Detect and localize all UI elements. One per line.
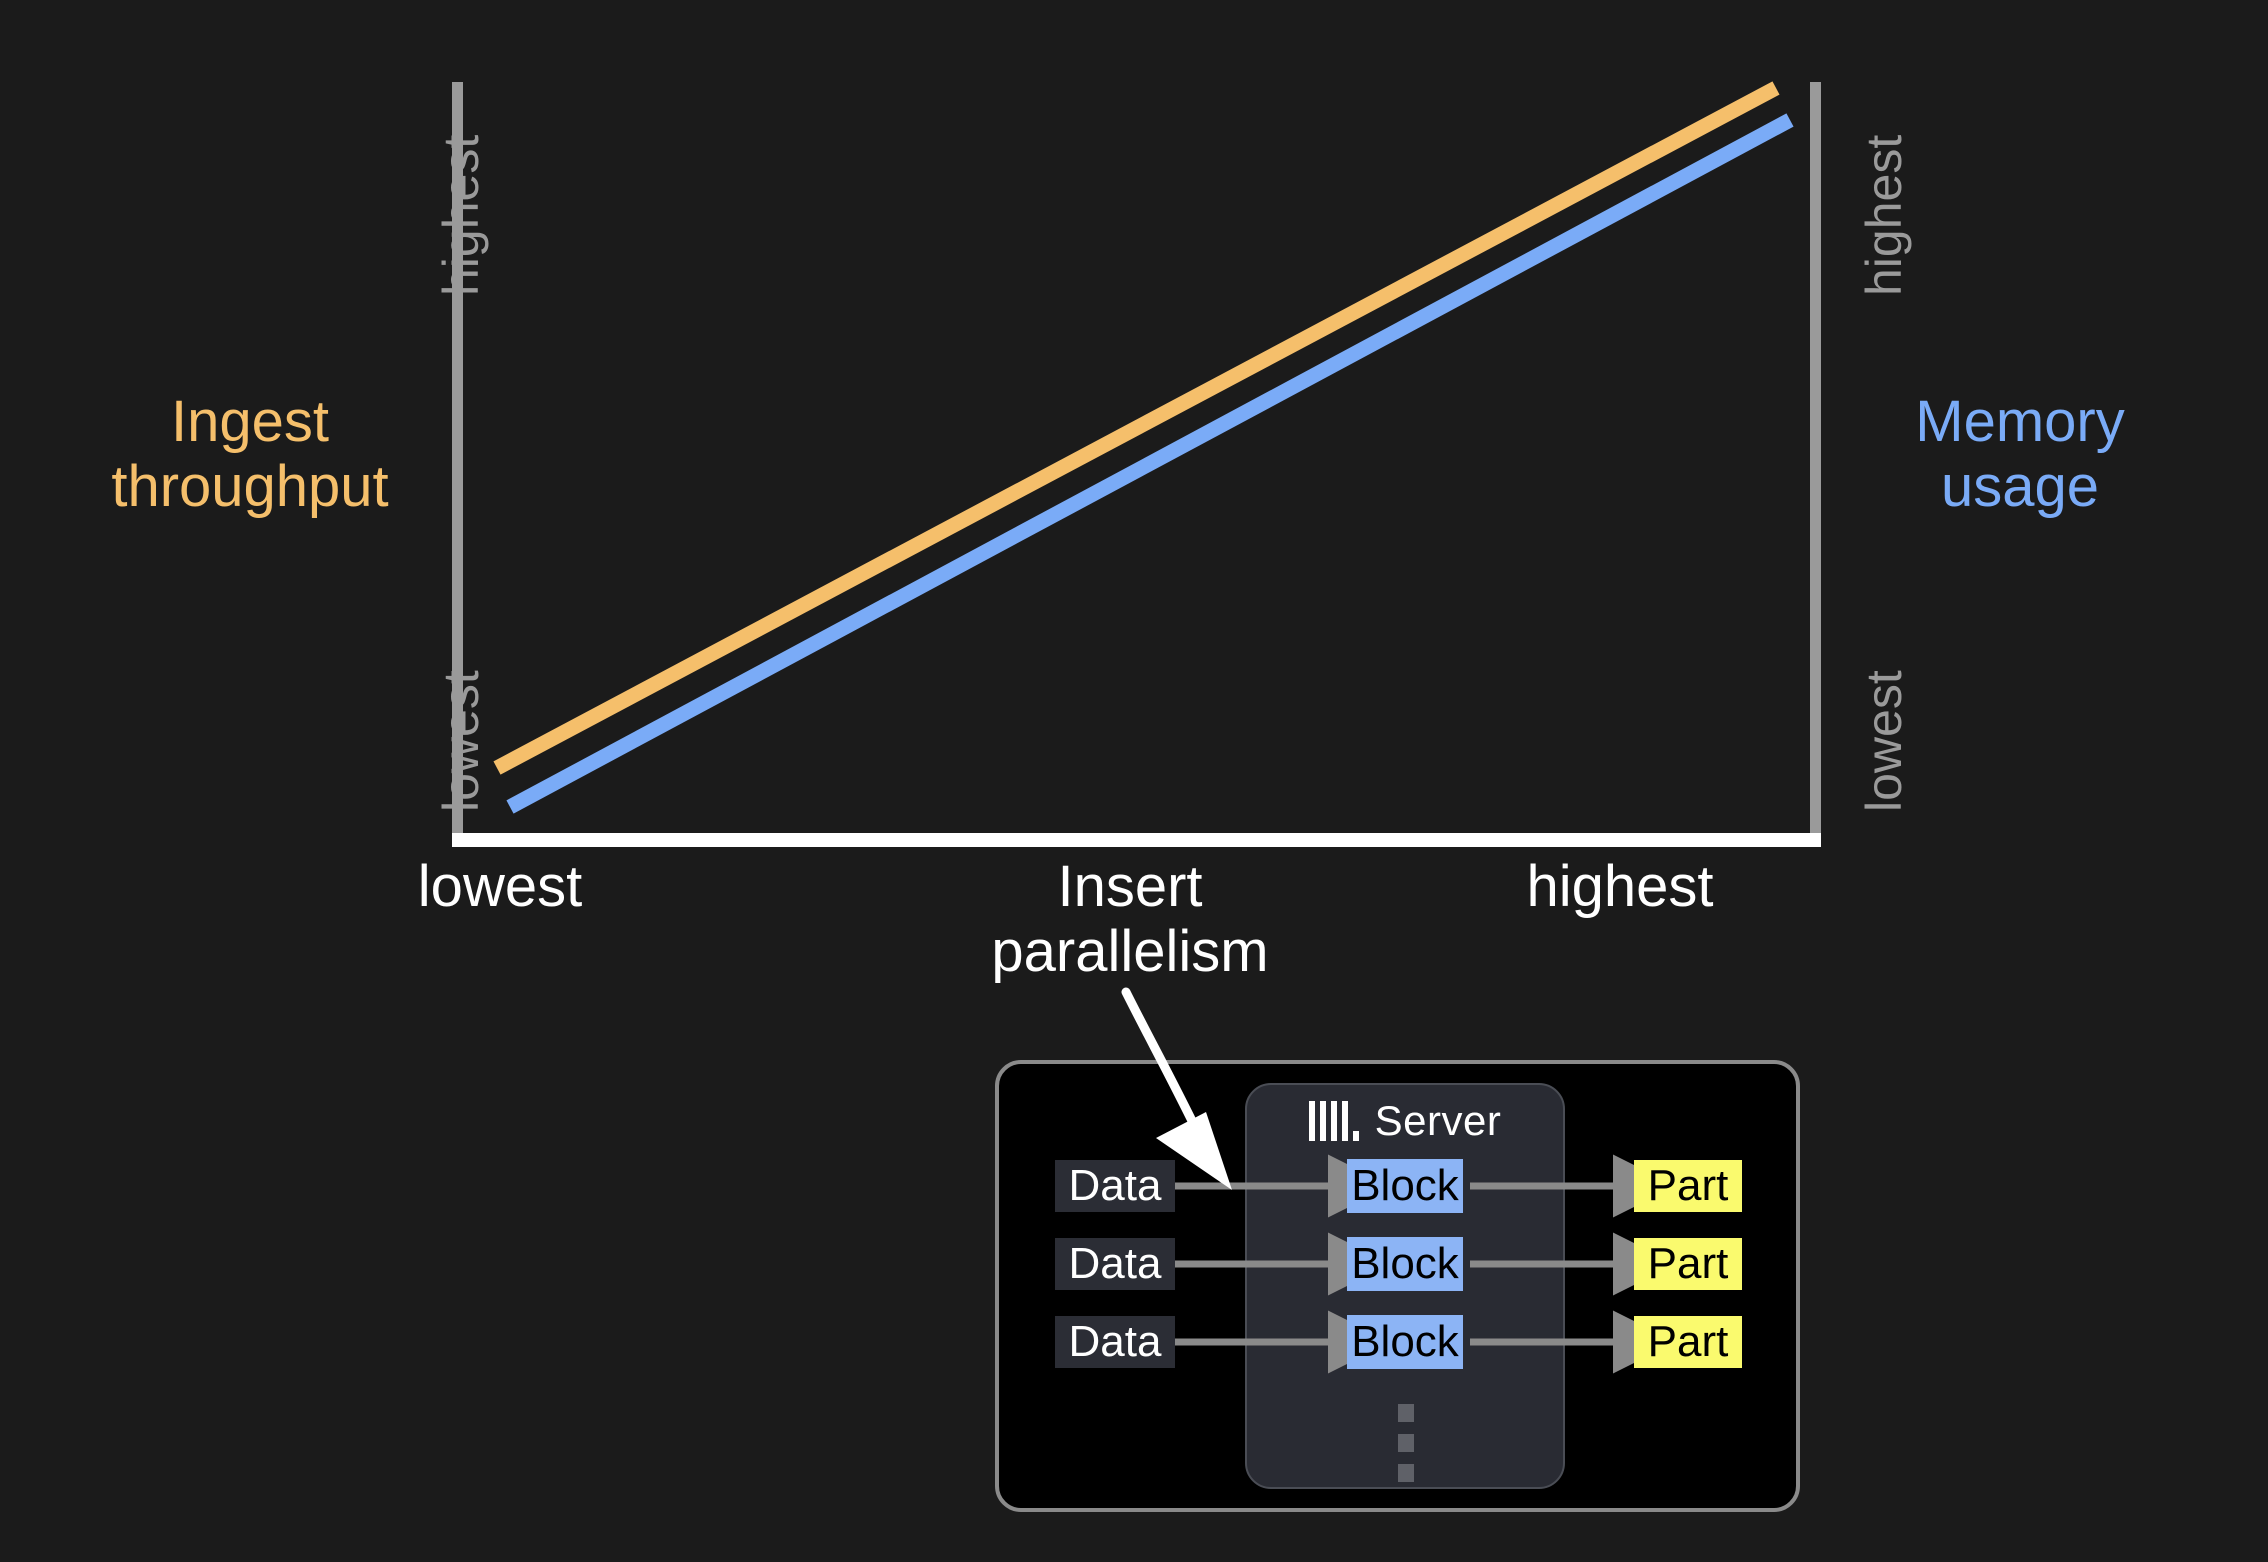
server-label: Server [1375,1097,1502,1145]
hand-drawn-arrow-icon [1120,990,1380,1200]
vertical-ellipsis-dot-3 [1398,1464,1414,1482]
node-part-2: Part [1634,1238,1742,1290]
node-block-3: Block [1347,1315,1463,1369]
series-line-memory-usage [510,120,1790,807]
x-axis-tick-lowest: lowest [320,855,680,920]
y-axis-left-tick-highest: highest [432,135,490,296]
y-axis-left-title: Ingest throughput [100,390,400,520]
node-data-3: Data [1055,1316,1175,1368]
chart-region: highest lowest highest lowest Ingest thr… [0,0,2268,1010]
node-part-1: Part [1634,1160,1742,1212]
series-line-ingest-throughput [497,88,1776,768]
x-axis-tick-highest: highest [1420,855,1820,920]
node-block-2: Block [1347,1237,1463,1291]
vertical-ellipsis-dot-2 [1398,1434,1414,1452]
x-axis-title: Insert parallelism [950,855,1310,985]
node-data-2: Data [1055,1238,1175,1290]
y-axis-right-tick-highest: highest [1855,135,1913,296]
y-axis-left-tick-lowest: lowest [432,670,490,812]
vertical-ellipsis-dot-1 [1398,1404,1414,1422]
node-part-3: Part [1634,1316,1742,1368]
y-axis-right-title: Memory usage [1855,390,2185,520]
y-axis-right-tick-lowest: lowest [1855,670,1913,812]
